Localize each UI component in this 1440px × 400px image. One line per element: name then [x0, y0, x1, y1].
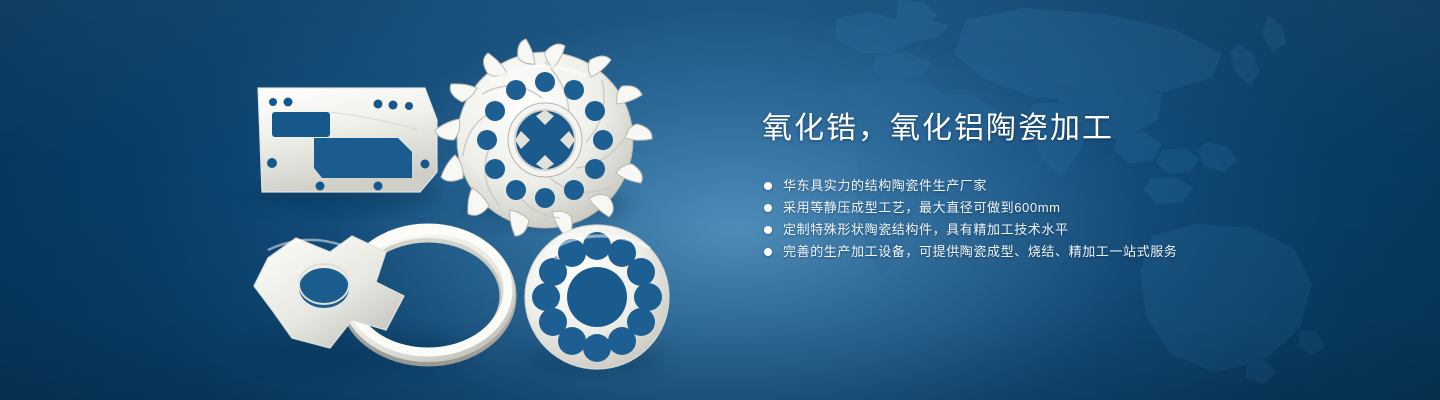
bullet-dot-icon	[764, 226, 772, 234]
feature-text: 完善的生产加工设备，可提供陶瓷成型、烧结、精加工一站式服务	[783, 241, 1177, 263]
banner-copy: 氧化锆，氧化铝陶瓷加工 华东具实力的结构陶瓷件生产厂家 采用等静压成型工艺，最大…	[762, 110, 1382, 263]
bullet-dot-icon	[764, 204, 772, 212]
ceramic-products-image	[0, 0, 720, 400]
bullet-dot-icon	[764, 248, 772, 256]
list-item: 华东具实力的结构陶瓷件生产厂家	[762, 175, 1382, 197]
ceramic-perforated-disc	[525, 225, 669, 369]
feature-text: 华东具实力的结构陶瓷件生产厂家	[783, 175, 987, 197]
ceramic-plate-machined	[258, 88, 437, 192]
list-item: 完善的生产加工设备，可提供陶瓷成型、烧结、精加工一站式服务	[762, 241, 1382, 263]
bullet-dot-icon	[764, 182, 772, 190]
list-item: 采用等静压成型工艺，最大直径可做到600mm	[762, 197, 1382, 219]
list-item: 定制特殊形状陶瓷结构件，具有精加工技术水平	[762, 219, 1382, 241]
feature-text: 采用等静压成型工艺，最大直径可做到600mm	[783, 197, 1061, 219]
feature-list: 华东具实力的结构陶瓷件生产厂家 采用等静压成型工艺，最大直径可做到600mm 定…	[762, 175, 1382, 263]
ceramic-cross-plate	[254, 236, 404, 348]
banner-headline: 氧化锆，氧化铝陶瓷加工	[762, 110, 1382, 148]
feature-text: 定制特殊形状陶瓷结构件，具有精加工技术水平	[783, 219, 1069, 241]
hero-banner: 氧化锆，氧化铝陶瓷加工 华东具实力的结构陶瓷件生产厂家 采用等静压成型工艺，最大…	[0, 0, 1440, 400]
